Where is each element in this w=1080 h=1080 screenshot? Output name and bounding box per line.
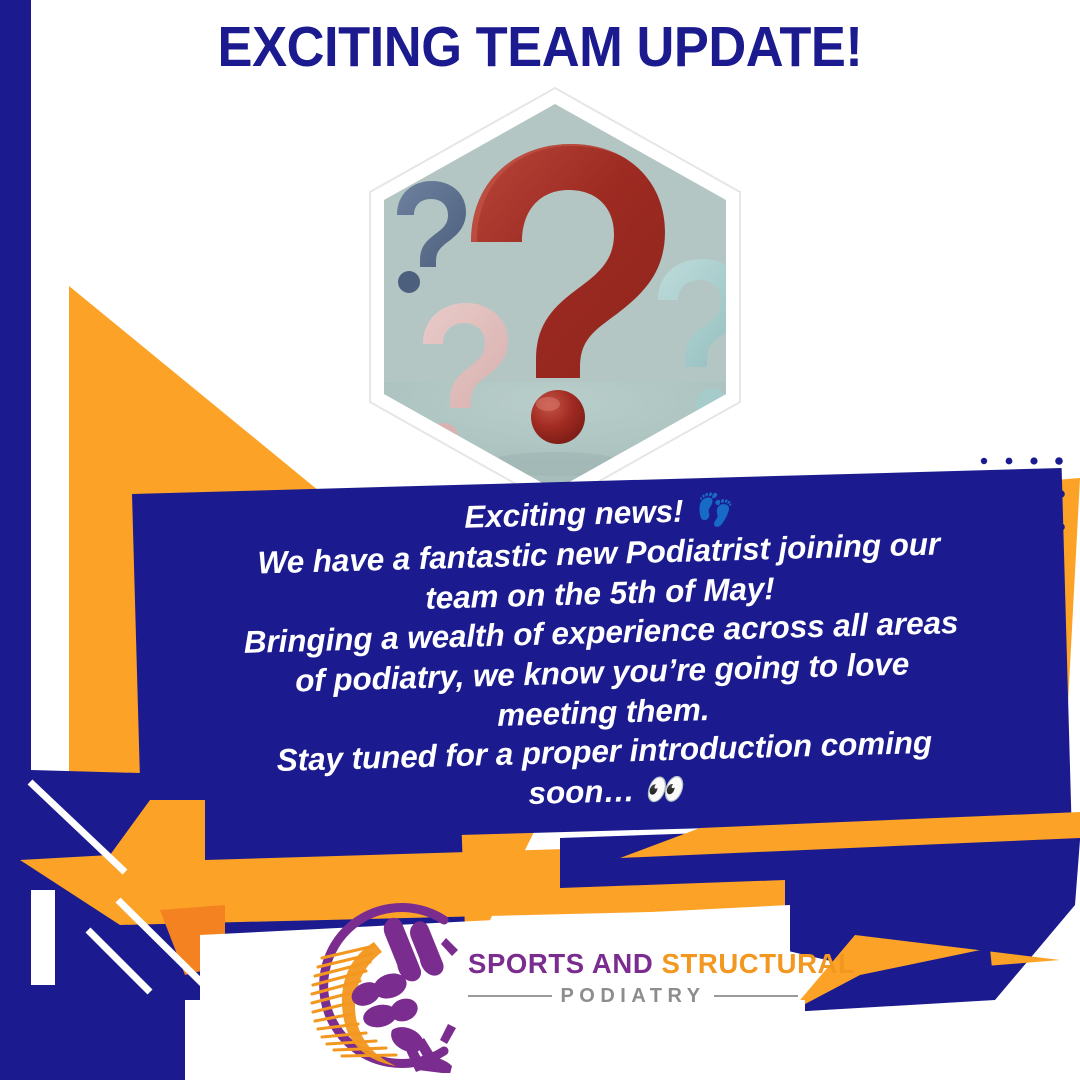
social-media-poster: EXCITING TEAM UPDATE! [0, 0, 1080, 1080]
company-logo: SPORTS AND STRUCTURAL PODIATRY [300, 898, 800, 1073]
logo-rule-right [714, 995, 798, 997]
logo-sports-and-text: SPORTS AND [468, 948, 662, 979]
logo-structural-text: STRUCTURAL [662, 948, 856, 979]
logo-rule-left [468, 995, 552, 997]
logo-wordmark: SPORTS AND STRUCTURAL PODIATRY [468, 950, 798, 1008]
logo-podiatry-text: PODIATRY [560, 985, 705, 1008]
foot-skeleton-logo-icon [300, 898, 475, 1073]
logo-primary-line: SPORTS AND STRUCTURAL [468, 950, 798, 978]
logo-secondary-line: PODIATRY [468, 985, 798, 1008]
